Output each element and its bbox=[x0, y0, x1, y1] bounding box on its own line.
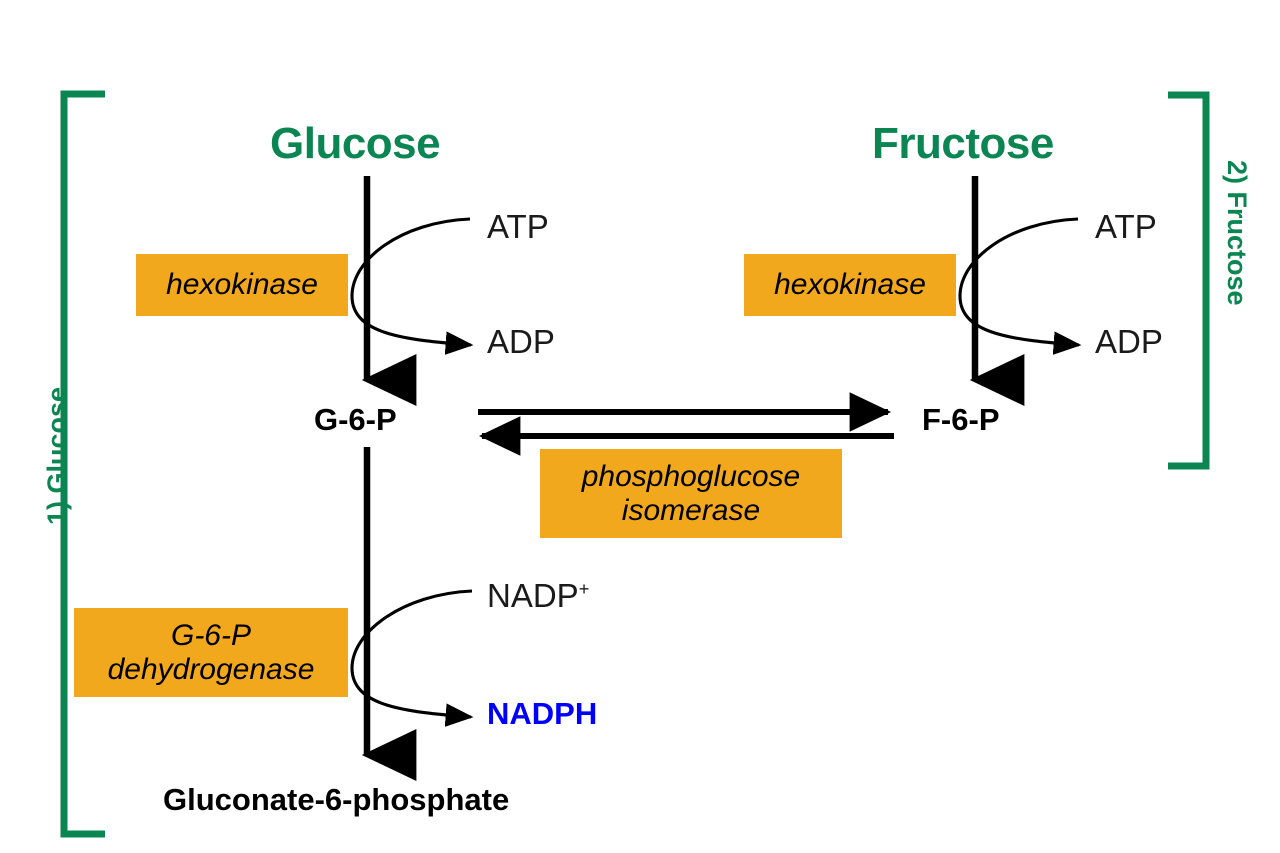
enzyme-phosphoglucose-isomerase-line1: phosphoglucose bbox=[582, 460, 801, 494]
metabolite-glucose: Glucose bbox=[270, 122, 440, 166]
group-label-fructose: 2) Fructose bbox=[1221, 160, 1252, 306]
cofactor-arc-nadp-nadph bbox=[352, 591, 472, 717]
enzyme-phosphoglucose-isomerase-line2: isomerase bbox=[622, 494, 760, 528]
cofactor-arc-atp-adp-right bbox=[960, 219, 1079, 345]
enzyme-phosphoglucose-isomerase: phosphoglucose isomerase bbox=[540, 449, 842, 538]
metabolite-f6p: F-6-P bbox=[922, 404, 1000, 435]
cofactor-nadp-plus: NADP+ bbox=[487, 579, 589, 612]
cofactor-arc-atp-adp-left bbox=[352, 219, 471, 345]
cofactor-atp-right: ATP bbox=[1095, 210, 1157, 243]
pathway-diagram-canvas: 1) Glucose 2) Fructose Glucose Fructose … bbox=[0, 0, 1280, 853]
enzyme-g6p-dehydrogenase-line1: G-6-P bbox=[171, 619, 251, 653]
cofactor-atp-left: ATP bbox=[487, 210, 549, 243]
metabolite-fructose: Fructose bbox=[872, 122, 1054, 166]
enzyme-hexokinase-right-label: hexokinase bbox=[774, 268, 926, 302]
enzyme-hexokinase-right: hexokinase bbox=[744, 254, 956, 316]
enzyme-g6p-dehydrogenase: G-6-P dehydrogenase bbox=[74, 608, 348, 697]
diagram-vector-layer bbox=[0, 0, 1280, 853]
cofactor-nadp-plus-base: NADP bbox=[487, 577, 579, 614]
cofactor-nadph: NADPH bbox=[487, 698, 597, 729]
metabolite-gluconate-6-phosphate: Gluconate-6-phosphate bbox=[163, 784, 509, 815]
cofactor-adp-left: ADP bbox=[487, 325, 555, 358]
enzyme-hexokinase-left: hexokinase bbox=[136, 254, 348, 316]
bracket-fructose-group bbox=[1168, 95, 1206, 466]
enzyme-g6p-dehydrogenase-line2: dehydrogenase bbox=[108, 653, 315, 687]
metabolite-g6p: G-6-P bbox=[314, 404, 397, 435]
cofactor-adp-right: ADP bbox=[1095, 325, 1163, 358]
group-label-glucose: 1) Glucose bbox=[42, 387, 73, 525]
cofactor-nadp-plus-charge: + bbox=[579, 579, 590, 599]
enzyme-hexokinase-left-label: hexokinase bbox=[166, 268, 318, 302]
